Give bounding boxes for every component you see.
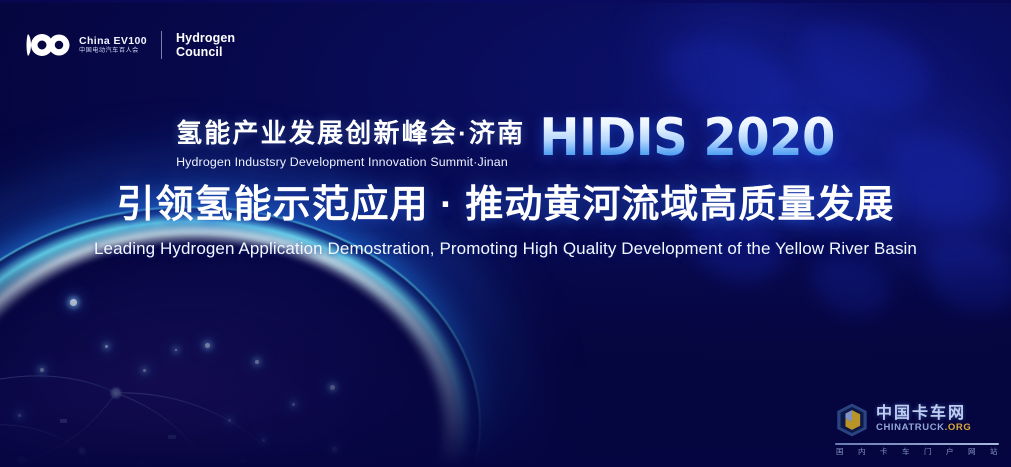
summit-title-block: 氢能产业发展创新峰会·济南 Hydrogen Industsry Develop… xyxy=(0,112,1011,170)
summit-title-en: Hydrogen Industsry Development Innovatio… xyxy=(176,155,508,170)
watermark-text: 中国卡车网 CHINATRUCK.ORG xyxy=(876,406,971,433)
watermark-tagline-char: 卡 xyxy=(880,448,888,456)
watermark-tagline-char: 站 xyxy=(990,448,998,456)
watermark-en-main: CHINATRUCK xyxy=(876,422,945,433)
logo-divider xyxy=(161,31,162,59)
watermark-en-suffix: .ORG xyxy=(945,422,972,433)
watermark-tagline: 国 内 卡 车 门 户 网 站 xyxy=(835,448,999,456)
watermark-rule xyxy=(835,443,999,445)
summit-title-cn: 氢能产业发展创新峰会·济南 xyxy=(176,119,525,148)
ev100-name-en: China EV100 xyxy=(79,36,147,47)
summit-title-texts: 氢能产业发展创新峰会·济南 Hydrogen Industsry Develop… xyxy=(176,112,525,170)
watermark-tagline-char: 门 xyxy=(924,448,932,456)
chinatruck-logo-icon xyxy=(835,402,869,438)
background-top-edge xyxy=(0,0,1011,3)
headline-cn: 引领氢能示范应用 · 推动黄河流域高质量发展 xyxy=(0,185,1011,226)
watermark-tagline-char: 车 xyxy=(902,448,910,456)
ev100-logo-mark-icon xyxy=(24,32,70,58)
chinatruck-watermark: 中国卡车网 CHINATRUCK.ORG 国 内 卡 车 门 户 网 站 xyxy=(835,402,999,456)
watermark-top-row: 中国卡车网 CHINATRUCK.ORG xyxy=(835,402,999,438)
hydrogen-council-wordmark: Hydrogen Council xyxy=(176,31,235,59)
watermark-tagline-char: 国 xyxy=(836,448,844,456)
ev100-wordmark: China EV100 中国电动汽车百人会 xyxy=(79,36,147,54)
ev100-name-cn: 中国电动汽车百人会 xyxy=(79,48,147,54)
watermark-tagline-char: 户 xyxy=(946,448,954,456)
summit-acronym: HIDIS 2020 xyxy=(539,112,835,164)
watermark-name-en: CHINATRUCK.ORG xyxy=(876,423,971,433)
hydrogen-council-line1: Hydrogen xyxy=(176,31,235,45)
hydrogen-council-line2: Council xyxy=(176,45,235,59)
watermark-name-cn: 中国卡车网 xyxy=(876,406,971,422)
event-banner: China EV100 中国电动汽车百人会 Hydrogen Council 氢… xyxy=(0,0,1011,467)
watermark-tagline-char: 网 xyxy=(968,448,976,456)
logo-lockup: China EV100 中国电动汽车百人会 Hydrogen Council xyxy=(24,26,235,64)
watermark-tagline-char: 内 xyxy=(858,448,866,456)
